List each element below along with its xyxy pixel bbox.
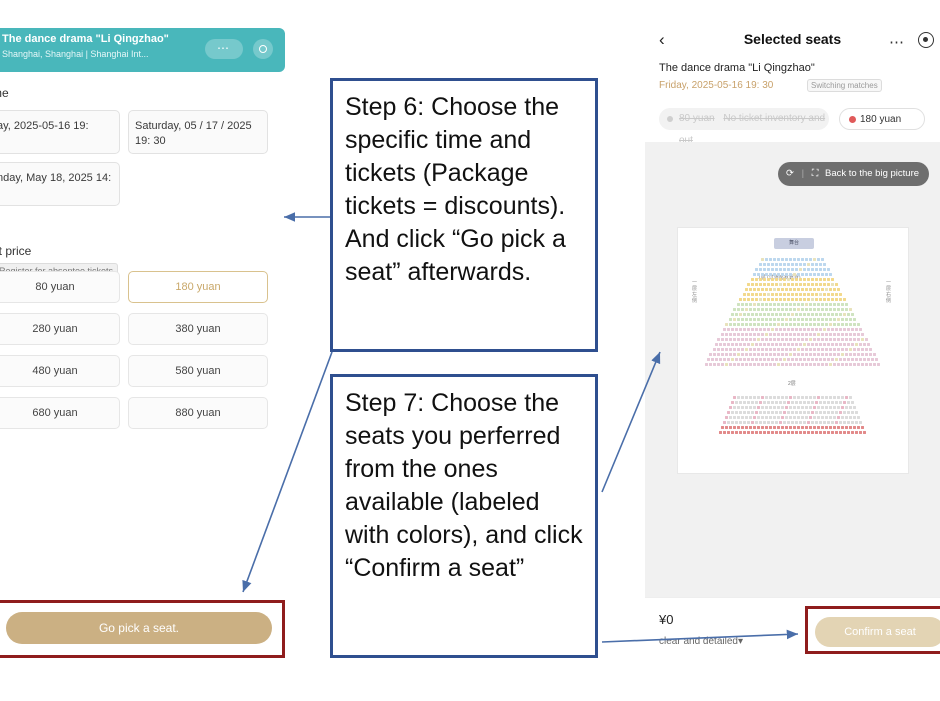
back-to-overview-icon[interactable]: ⛶ (812, 168, 819, 179)
price-option-480[interactable]: 480 yuan (0, 355, 120, 387)
seat-map[interactable]: 舞台 1层 (过道座有靠背) 2层 一层左侧 一层右侧 (677, 227, 909, 474)
time-section-label: me (0, 86, 9, 100)
price-pill-80-label: 80 yuan (679, 113, 715, 124)
confirm-seat-highlight: Confirm a seat (805, 606, 940, 654)
nav-bar: ‹ Selected seats ⋯ (645, 28, 940, 60)
time-option-3[interactable]: nday, May 18, 2025 14: (0, 162, 120, 206)
price-option-680[interactable]: 680 yuan (0, 397, 120, 429)
seat-footer: ¥0 clear and detailed▾ Confirm a seat (645, 597, 940, 670)
right-phone-screen: ‹ Selected seats ⋯ The dance drama "Li Q… (645, 0, 940, 670)
zone-label-2: 2层 (788, 380, 796, 387)
more-dots-icon[interactable]: ⋯ (889, 33, 905, 51)
refresh-icon[interactable]: ⟳ (786, 168, 794, 179)
price-option-380[interactable]: 380 yuan (128, 313, 268, 345)
seatmap-toolbar[interactable]: ⟳ | ⛶ Back to the big picture (778, 162, 929, 186)
left-phone-screen: The dance drama "Li Qingzhao" Shanghai, … (0, 0, 285, 670)
right-side-label: 一层右侧 (886, 280, 893, 304)
price-section-label: et price (0, 244, 31, 258)
callout-step-6: Step 6: Choose the specific time and tic… (330, 78, 598, 352)
price-option-880[interactable]: 880 yuan (128, 397, 268, 429)
left-side-label: 一层左侧 (692, 280, 699, 304)
target-icon[interactable] (918, 32, 934, 48)
time-option-1[interactable]: ay, 2025-05-16 19: (0, 110, 120, 154)
price-option-180[interactable]: 180 yuan (128, 271, 268, 303)
show-date: Friday, 2025-05-16 19: 30 (659, 80, 773, 91)
callout-step-7: Step 7: Choose the seats you perferred f… (330, 374, 598, 658)
go-pick-seat-highlight: Go pick a seat. (0, 600, 285, 658)
show-header-card: The dance drama "Li Qingzhao" Shanghai, … (0, 28, 285, 72)
price-pill-80[interactable]: 80 yuan No ticket inventory and out (659, 108, 829, 130)
caret-down-icon: ▾ (738, 636, 743, 647)
show-title: The dance drama "Li Qingzhao" (659, 62, 815, 74)
seat-map-panel[interactable]: ⟳ | ⛶ Back to the big picture 舞台 1层 (过道座… (645, 142, 940, 597)
price-option-80[interactable]: 80 yuan (0, 271, 120, 303)
price-detail-toggle[interactable]: clear and detailed▾ (659, 636, 743, 647)
more-dots-icon[interactable]: ⋯ (205, 39, 243, 59)
switch-matches-button[interactable]: Switching matches (807, 79, 882, 92)
price-pill-180[interactable]: 180 yuan (839, 108, 925, 130)
price-option-280[interactable]: 280 yuan (0, 313, 120, 345)
go-pick-seat-button[interactable]: Go pick a seat. (6, 612, 272, 644)
confirm-seat-button[interactable]: Confirm a seat (815, 617, 940, 647)
price-pill-180-label: 180 yuan (860, 114, 901, 125)
back-to-overview-label: Back to the big picture (825, 168, 919, 179)
target-icon[interactable] (253, 39, 273, 59)
stage-label: 舞台 (774, 238, 814, 249)
time-option-2[interactable]: Saturday, 05 / 17 / 2025 19: 30 (128, 110, 268, 154)
price-option-580[interactable]: 580 yuan (128, 355, 268, 387)
toolbar-divider: | (802, 168, 804, 179)
total-price: ¥0 (659, 612, 673, 627)
price-detail-label: clear and detailed (659, 636, 738, 647)
